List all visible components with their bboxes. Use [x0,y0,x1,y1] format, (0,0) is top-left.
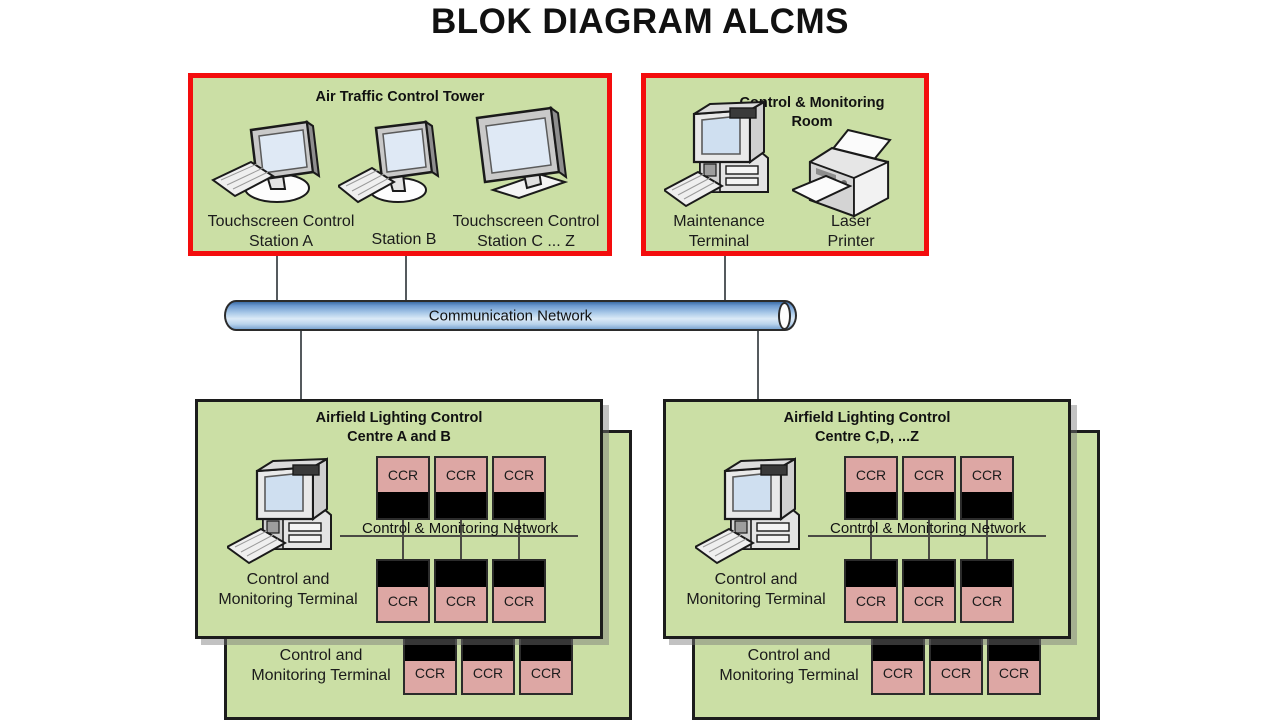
ccr-label: CCR [494,467,544,483]
alcc-right-panel: Airfield Lighting Control Centre C,D, ..… [663,399,1071,639]
ccr-label: CCR [904,467,954,483]
ccr-box: CCR [434,456,488,520]
connector-alcc-right [757,330,759,400]
alcc-left-title: Airfield Lighting Control Centre A and B [198,409,600,447]
alcc-right-title: Airfield Lighting Control Centre C,D, ..… [666,409,1068,447]
ccr-band [494,492,544,518]
ccr-box: CCR [461,633,515,695]
ccr-connector [518,537,520,561]
ccr-connector [986,537,988,561]
ccr-box: CCR [492,559,546,623]
ccr-box: CCR [960,559,1014,623]
ccr-band [962,561,1012,587]
maintenance-terminal-caption: Maintenance Terminal [640,212,798,252]
ccr-label: CCR [405,665,455,681]
ccr-label: CCR [962,467,1012,483]
ccr-box: CCR [376,559,430,623]
ccr-box: CCR [902,559,956,623]
control-monitoring-network-label: Control & Monitoring Network [338,520,582,537]
ccr-box: CCR [403,633,457,695]
ccr-connector [928,537,930,561]
ccr-label: CCR [463,665,513,681]
ccr-box: CCR [376,456,430,520]
ccr-band [904,561,954,587]
control-monitoring-network-label: Control & Monitoring Network [806,520,1050,537]
network-end-cap-icon [778,302,791,330]
ccr-band [904,492,954,518]
ccr-connector [402,537,404,561]
ccr-box: CCR [844,559,898,623]
ccr-box: CCR [519,633,573,695]
ccr-band [436,492,486,518]
ccr-box: CCR [434,559,488,623]
ccr-label: CCR [931,665,981,681]
ccr-label: CCR [494,593,544,609]
connector-station-b [405,255,407,304]
communication-network-label: Communication Network [226,307,795,324]
connector-control-room [724,255,726,304]
ccr-band [846,492,896,518]
station-cz-caption: Touchscreen Control Station C ... Z [431,212,621,252]
ccr-label: CCR [846,467,896,483]
ccr-label: CCR [521,665,571,681]
ccr-band [846,561,896,587]
ccr-box: CCR [871,633,925,695]
ccr-connector [460,537,462,561]
ccr-band [962,492,1012,518]
ccr-box: CCR [492,456,546,520]
ccr-label: CCR [436,593,486,609]
communication-network-bar: Communication Network [224,300,797,331]
alcc-right-back-terminal-caption: Control and Monitoring Terminal [689,646,889,686]
ccr-label: CCR [873,665,923,681]
alcc-left-back-terminal-caption: Control and Monitoring Terminal [221,646,421,686]
connector-alcc-left [300,330,302,400]
control-monitoring-room-panel: Control & Monitoring Room Maintenance [641,73,929,256]
page-title: BLOK DIAGRAM ALCMS [0,2,1280,42]
desktop-pc-icon [695,457,815,573]
ccr-label: CCR [378,467,428,483]
ccr-label: CCR [378,593,428,609]
atc-tower-panel: Air Traffic Control Tower Touchscreen Co… [188,73,612,256]
ccr-band [436,561,486,587]
ccr-connector [870,537,872,561]
ccr-box: CCR [929,633,983,695]
ccr-label: CCR [904,593,954,609]
desktop-pc-icon [227,457,347,573]
ccr-box: CCR [960,456,1014,520]
desktop-pc-icon [664,100,784,216]
flat-monitor-keyboard-icon [211,110,331,210]
flat-monitor-keyboard-icon [338,114,448,210]
ccr-box: CCR [902,456,956,520]
connector-station-a [276,255,278,304]
ccr-band [494,561,544,587]
ccr-box: CCR [987,633,1041,695]
alcc-left-terminal-caption: Control and Monitoring Terminal [198,570,378,610]
ccr-label: CCR [846,593,896,609]
alcc-left-panel: Airfield Lighting Control Centre A and B… [195,399,603,639]
ccr-label: CCR [989,665,1039,681]
flat-monitor-icon [461,102,571,208]
laser-printer-icon [792,128,904,224]
diagram-canvas: BLOK DIAGRAM ALCMS Air Traffic Control T… [0,0,1280,720]
ccr-label: CCR [962,593,1012,609]
ccr-band [378,492,428,518]
laser-printer-caption: Laser Printer [786,212,916,252]
ccr-box: CCR [844,456,898,520]
ccr-label: CCR [436,467,486,483]
ccr-band [378,561,428,587]
alcc-right-terminal-caption: Control and Monitoring Terminal [666,570,846,610]
